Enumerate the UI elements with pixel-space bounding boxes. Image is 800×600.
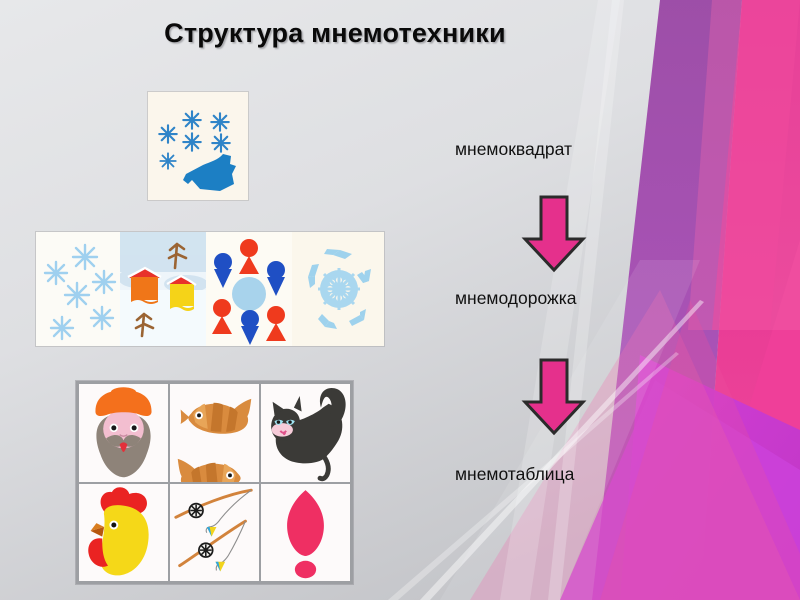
down-arrow-icon [521, 195, 587, 273]
mnemosquare-drawing [148, 92, 248, 200]
label-mnemotable: мнемотаблица [455, 464, 574, 485]
mnemotrack-card-1 [36, 232, 120, 346]
winter-houses-card [120, 232, 206, 346]
center-circle [232, 277, 266, 311]
arrow-down-2 [521, 358, 587, 436]
exclamation-mark-drawing [261, 484, 350, 582]
slide-title: Структура мнемотехники [0, 18, 800, 49]
mnemotable-cell-fish [170, 384, 259, 482]
fishing-rods-drawing [170, 484, 259, 582]
house-yellow [167, 276, 196, 311]
mnemotable-grid [76, 381, 353, 584]
mnemosquare-image [148, 92, 248, 200]
down-arrow-icon [521, 358, 587, 436]
mnemotable-cell-grandfather [79, 384, 168, 482]
slide: Структура мнемотехники [0, 0, 800, 600]
round-dance-card [206, 232, 292, 346]
mnemotable-cell-exclamation [261, 484, 350, 582]
mnemotrack-card-3 [206, 232, 292, 346]
mnemotrack-strip [36, 232, 384, 346]
rooster-drawing [79, 484, 168, 582]
snowflakes-card [36, 232, 120, 346]
fish-drawing [170, 384, 259, 482]
center-snowflake [318, 268, 360, 310]
mnemotable-cell-fishing-rods [170, 484, 259, 582]
arrow-down-1 [521, 195, 587, 273]
mnemotrack-card-2 [120, 232, 206, 346]
mnemotable-cell-rooster [79, 484, 168, 582]
cat-drawing [261, 384, 350, 482]
grandfather-drawing [79, 384, 168, 482]
label-mnemotrack: мнемодорожка [455, 288, 577, 309]
mnemotrack-card-4 [292, 232, 384, 346]
label-mnemosquare: мнемоквадрат [455, 139, 572, 160]
snowflake-cycle-card [292, 232, 384, 346]
house-orange [128, 268, 161, 304]
mnemotable-cell-cat [261, 384, 350, 482]
